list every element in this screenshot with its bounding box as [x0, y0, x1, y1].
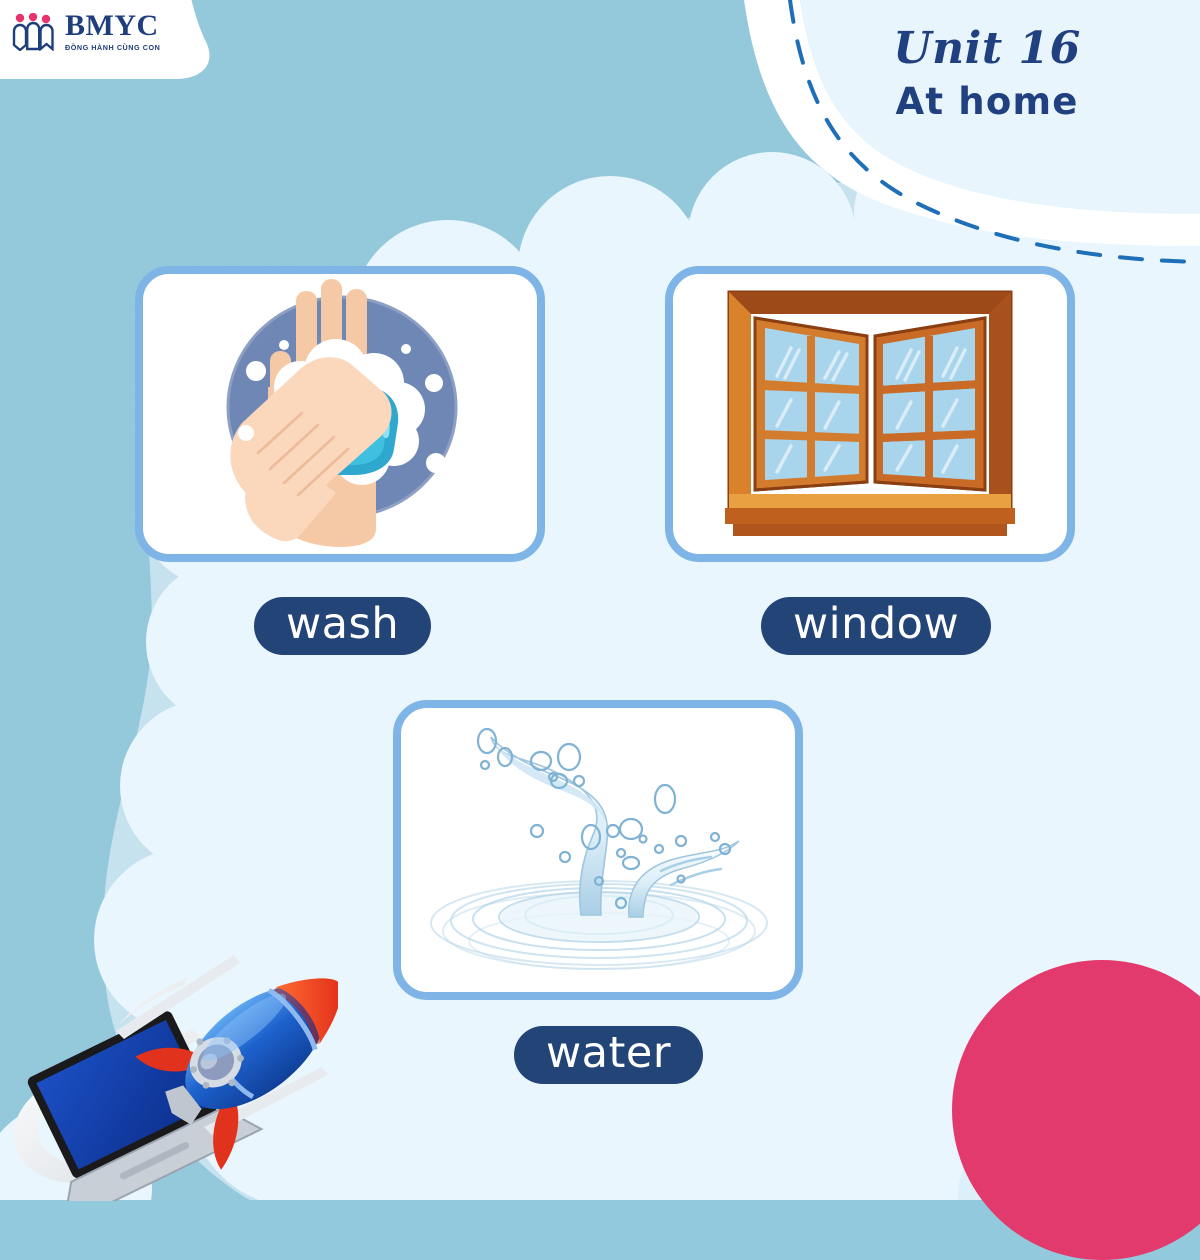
water-splash-icon	[413, 719, 783, 981]
brand-name: BMYC	[65, 12, 159, 41]
lesson-header: Unit 16 At home	[822, 26, 1152, 123]
three-people-logo-icon	[12, 13, 56, 51]
unit-number: Unit 16	[822, 26, 1152, 72]
hand-washing-with-soap-icon	[150, 279, 530, 549]
flashcard-water[interactable]	[393, 700, 803, 1000]
brand-tagline: ĐỒNG HÀNH CÙNG CON	[65, 43, 160, 52]
flashcard-label-window[interactable]: window	[761, 597, 991, 655]
flashcard-label-water[interactable]: water	[514, 1026, 703, 1084]
open-wooden-window-icon	[725, 290, 1015, 538]
flashcard-window[interactable]	[665, 266, 1075, 562]
flashcard-wash[interactable]	[135, 266, 545, 562]
brand-logo-badge[interactable]: BMYC ĐỒNG HÀNH CÙNG CON	[0, 0, 220, 92]
flashcard-label-wash[interactable]: wash	[254, 597, 431, 655]
lesson-topic: At home	[822, 80, 1152, 123]
rocket-launching-from-laptop-icon	[8, 911, 338, 1206]
